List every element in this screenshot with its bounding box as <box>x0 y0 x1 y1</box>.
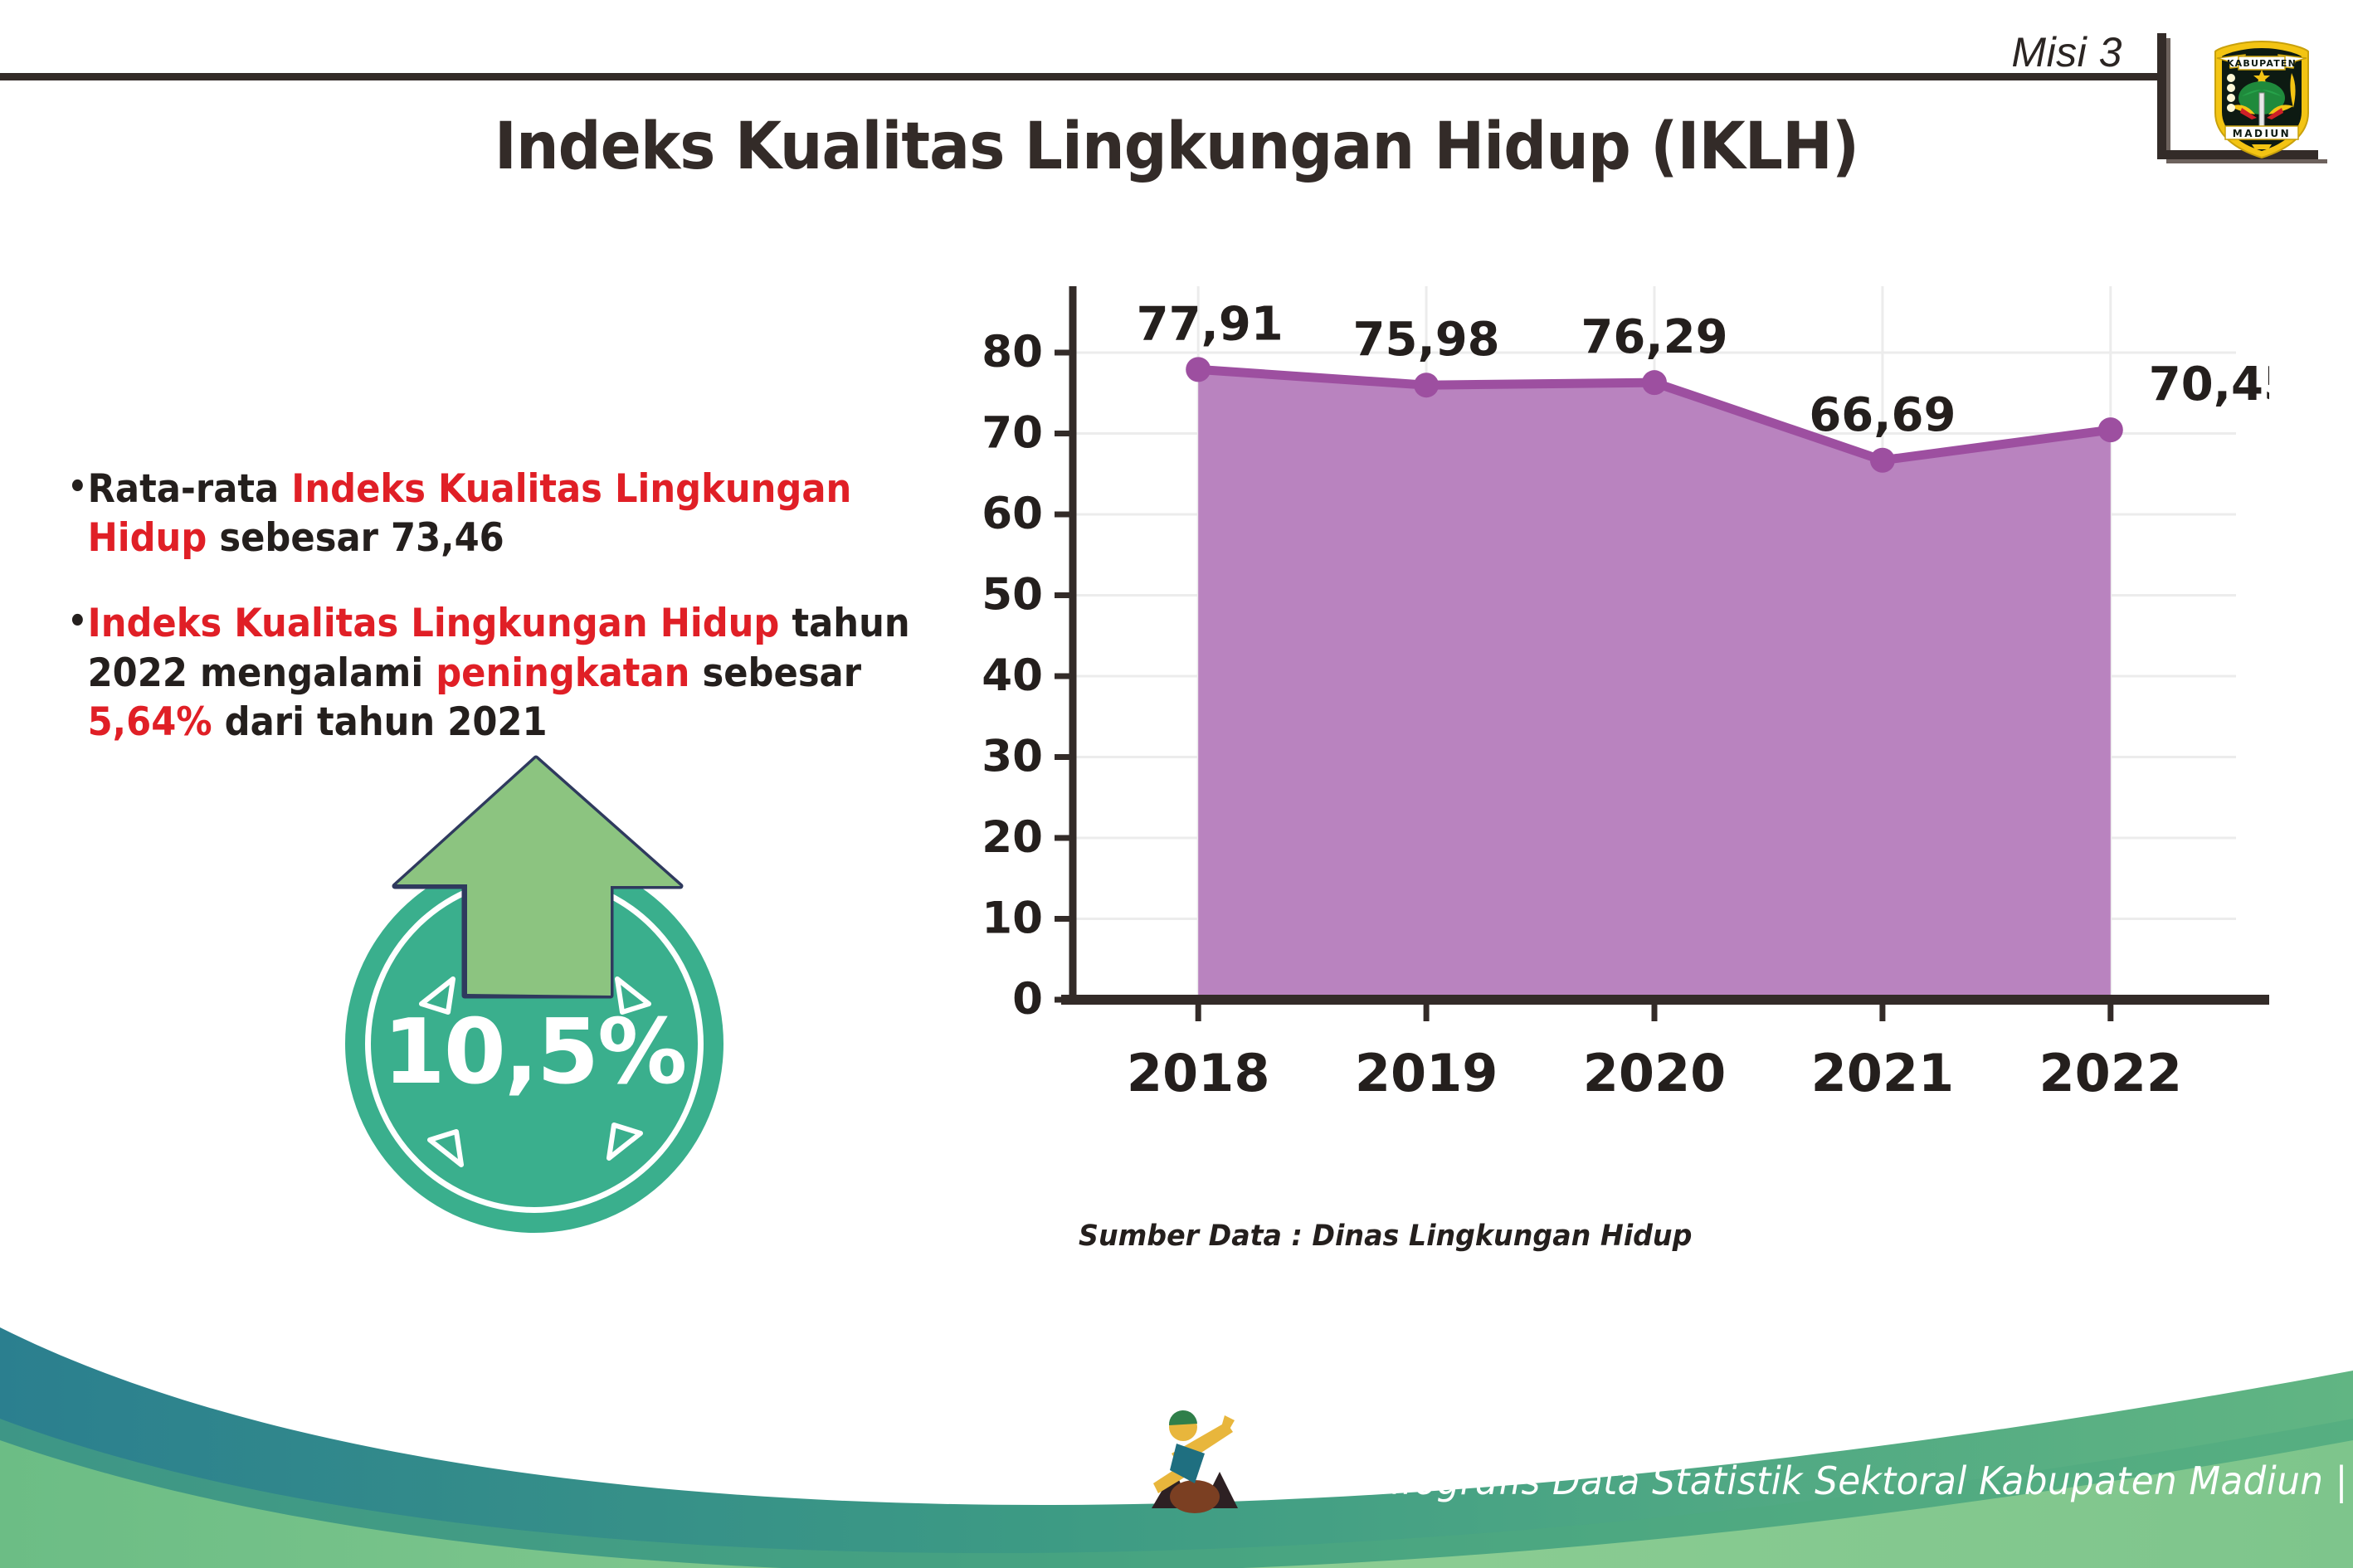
misi-label: Misi 3 <box>2011 28 2122 76</box>
sparkle-triangle-icon <box>597 1113 650 1166</box>
bullet-segment: 5,64% <box>88 699 212 745</box>
y-tick-label: 70 <box>982 408 1043 459</box>
bullet-list: • Rata-rata Indeks Kualitas Lingkungan H… <box>65 465 912 783</box>
chart-data-label: 77,91 <box>1137 297 1284 351</box>
svg-text:KABUPATEN: KABUPATEN <box>2227 58 2297 69</box>
y-tick-label: 0 <box>1012 974 1043 1025</box>
bullet-marker: • <box>68 601 88 642</box>
bullet-segment: sebesar <box>689 650 861 696</box>
iklh-area-chart: 010203040506070802018201920202021202277,… <box>975 274 2269 1178</box>
chart-data-point <box>1186 357 1211 382</box>
y-tick-label: 50 <box>982 570 1043 621</box>
chart-data-point <box>1642 370 1667 395</box>
chart-area-fill <box>1198 369 2111 1000</box>
x-tick-label: 2022 <box>2039 1043 2183 1103</box>
chart-data-label: 70,45 <box>2149 358 2269 411</box>
y-tick-label: 30 <box>982 732 1043 782</box>
chart-data-point <box>1414 373 1439 397</box>
increase-badge: 10,5% <box>322 752 745 1241</box>
bullet-segment: dari tahun 2021 <box>212 699 548 745</box>
chart-source-note: Sumber Data : Dinas Lingkungan Hidup <box>1079 1220 1692 1253</box>
sparkle-triangle-icon <box>420 1120 473 1173</box>
chart-data-label: 66,69 <box>1809 388 1956 442</box>
x-tick-label: 2019 <box>1355 1043 1498 1103</box>
y-tick-label: 10 <box>982 894 1043 944</box>
chart-data-point <box>1870 448 1895 473</box>
y-tick-label: 60 <box>982 489 1043 539</box>
bullet-segment: sebesar 73,46 <box>207 515 504 561</box>
bullet-text-1: Rata-rata Indeks Kualitas Lingkungan Hid… <box>88 466 852 561</box>
x-tick-label: 2021 <box>1811 1043 1955 1103</box>
y-tick-label: 20 <box>982 812 1043 863</box>
footer-caption: Media Infografis Data Statistik Sektoral… <box>1245 1458 2348 1503</box>
y-tick-label: 40 <box>982 650 1043 701</box>
bullet-segment: Rata-rata <box>88 466 292 512</box>
header-divider-rule <box>0 73 2167 80</box>
pencak-silat-figure-logo <box>1147 1404 1245 1528</box>
bullet-text-2: Indeks Kualitas Lingkungan Hidup tahun 2… <box>88 601 910 744</box>
chart-data-point <box>2098 417 2123 442</box>
x-tick-label: 2020 <box>1583 1043 1727 1103</box>
x-tick-label: 2018 <box>1127 1043 1270 1103</box>
y-tick-label: 80 <box>982 327 1043 377</box>
chart-data-label: 76,29 <box>1581 310 1727 364</box>
bullet-segment: Indeks Kualitas Lingkungan Hidup <box>88 601 780 646</box>
chart-canvas: 010203040506070802018201920202021202277,… <box>975 274 2269 1178</box>
bullet-segment: peningkatan <box>436 650 689 696</box>
chart-data-label: 75,98 <box>1353 313 1500 367</box>
list-item: • Indeks Kualitas Lingkungan Hidup tahun… <box>65 599 912 747</box>
list-item: • Rata-rata Indeks Kualitas Lingkungan H… <box>65 465 912 562</box>
infographic-slide: Misi 3 KABUPATEN MADIUN Indeks Kualitas … <box>0 0 2353 1568</box>
badge-value: 10,5% <box>345 1001 723 1104</box>
page-title: Indeks Kualitas Lingkungan Hidup (IKLH) <box>82 110 2270 184</box>
bullet-marker: • <box>68 466 88 508</box>
